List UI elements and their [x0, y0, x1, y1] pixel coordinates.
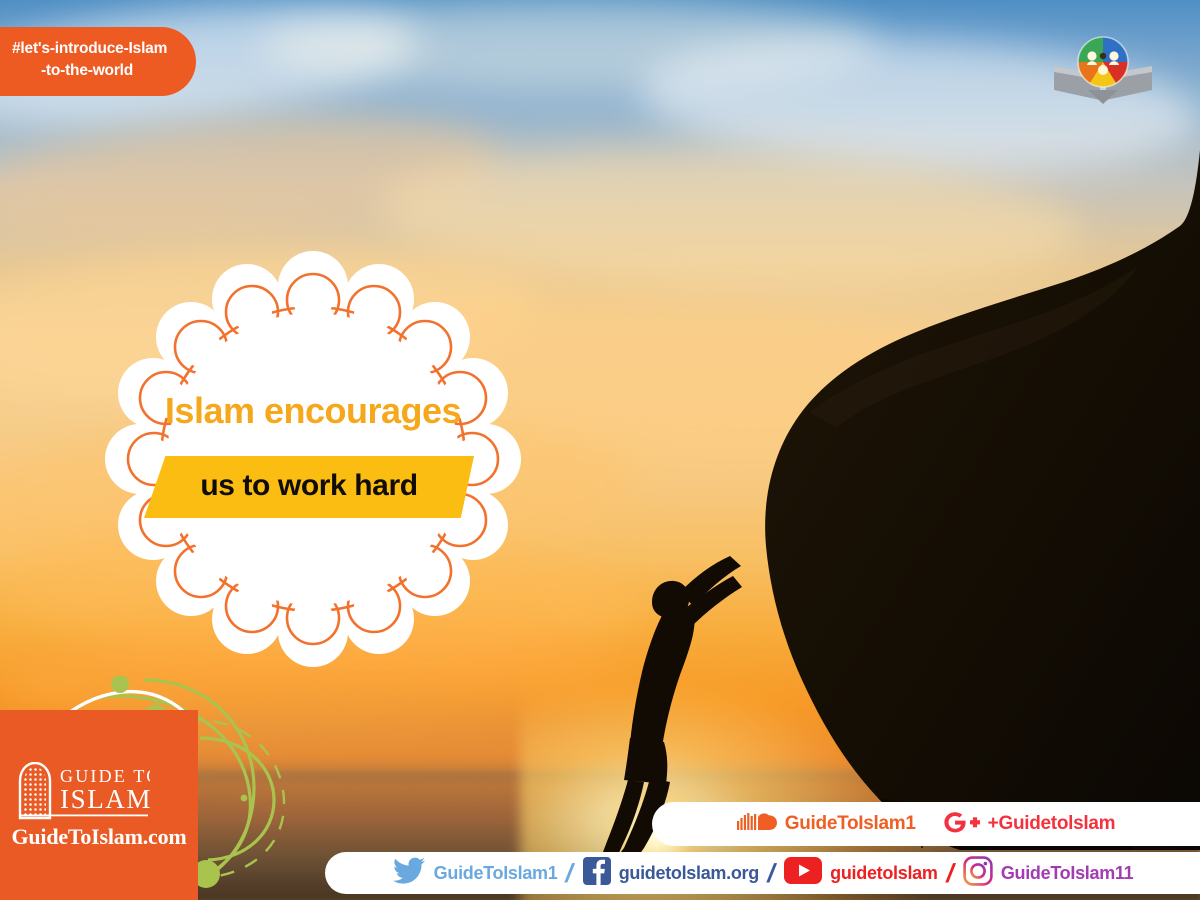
separator: / — [564, 860, 577, 886]
twitter-icon — [392, 857, 426, 890]
social-bar-top: GuideToIslam1 +Guidetolslam — [652, 802, 1200, 846]
message-line-2: us to work hard — [144, 456, 474, 518]
googleplus-icon — [942, 810, 980, 839]
svg-text:ISLAM: ISLAM — [60, 784, 150, 814]
message-highlight: us to work hard — [144, 456, 474, 518]
guide-to-islam-book-globe-emblem — [1048, 32, 1158, 104]
social-link-instagram[interactable]: GuideToIslam11 — [963, 856, 1134, 891]
social-label: guidetolslam.org — [619, 863, 759, 884]
social-link-soundcloud[interactable]: GuideToIslam1 — [737, 811, 916, 838]
message-badge-text: Islam encourages us to work hard — [78, 238, 548, 680]
youtube-icon — [784, 857, 822, 889]
message-line-1: Islam encourages — [78, 390, 548, 432]
instagram-icon — [963, 856, 993, 891]
social-label: GuideToIslam1 — [785, 813, 916, 835]
social-bar-bottom: GuideToIslam1 / guidetolslam.org / guide… — [325, 852, 1200, 894]
social-link-googleplus[interactable]: +Guidetolslam — [942, 810, 1116, 839]
social-link-youtube[interactable]: guidetolslam — [784, 857, 937, 889]
guide-to-islam-logo: GUIDE TO ISLAM — [18, 762, 150, 820]
facebook-icon — [583, 857, 611, 890]
separator: / — [944, 860, 957, 886]
separator: / — [765, 860, 778, 886]
poster-canvas: #let's-introduce-Islam -to-the-world — [0, 0, 1200, 900]
social-link-facebook[interactable]: guidetolslam.org — [583, 857, 759, 890]
brand-logo-panel: GUIDE TO ISLAM GuideToIslam.com — [0, 710, 198, 900]
svg-text:GUIDE TO: GUIDE TO — [60, 766, 150, 786]
hashtag-badge: #let's-introduce-Islam -to-the-world — [0, 27, 196, 96]
social-link-twitter[interactable]: GuideToIslam1 — [392, 857, 558, 890]
social-label: +Guidetolslam — [988, 813, 1116, 835]
soundcloud-icon — [737, 811, 777, 838]
social-label: GuideToIslam1 — [434, 863, 558, 884]
hashtag-line-2: -to-the-world — [12, 60, 180, 82]
brand-website: GuideToIslam.com — [6, 824, 192, 850]
hashtag-line-1: #let's-introduce-Islam — [12, 38, 180, 60]
social-label: GuideToIslam11 — [1001, 863, 1134, 884]
social-label: guidetolslam — [830, 863, 937, 884]
